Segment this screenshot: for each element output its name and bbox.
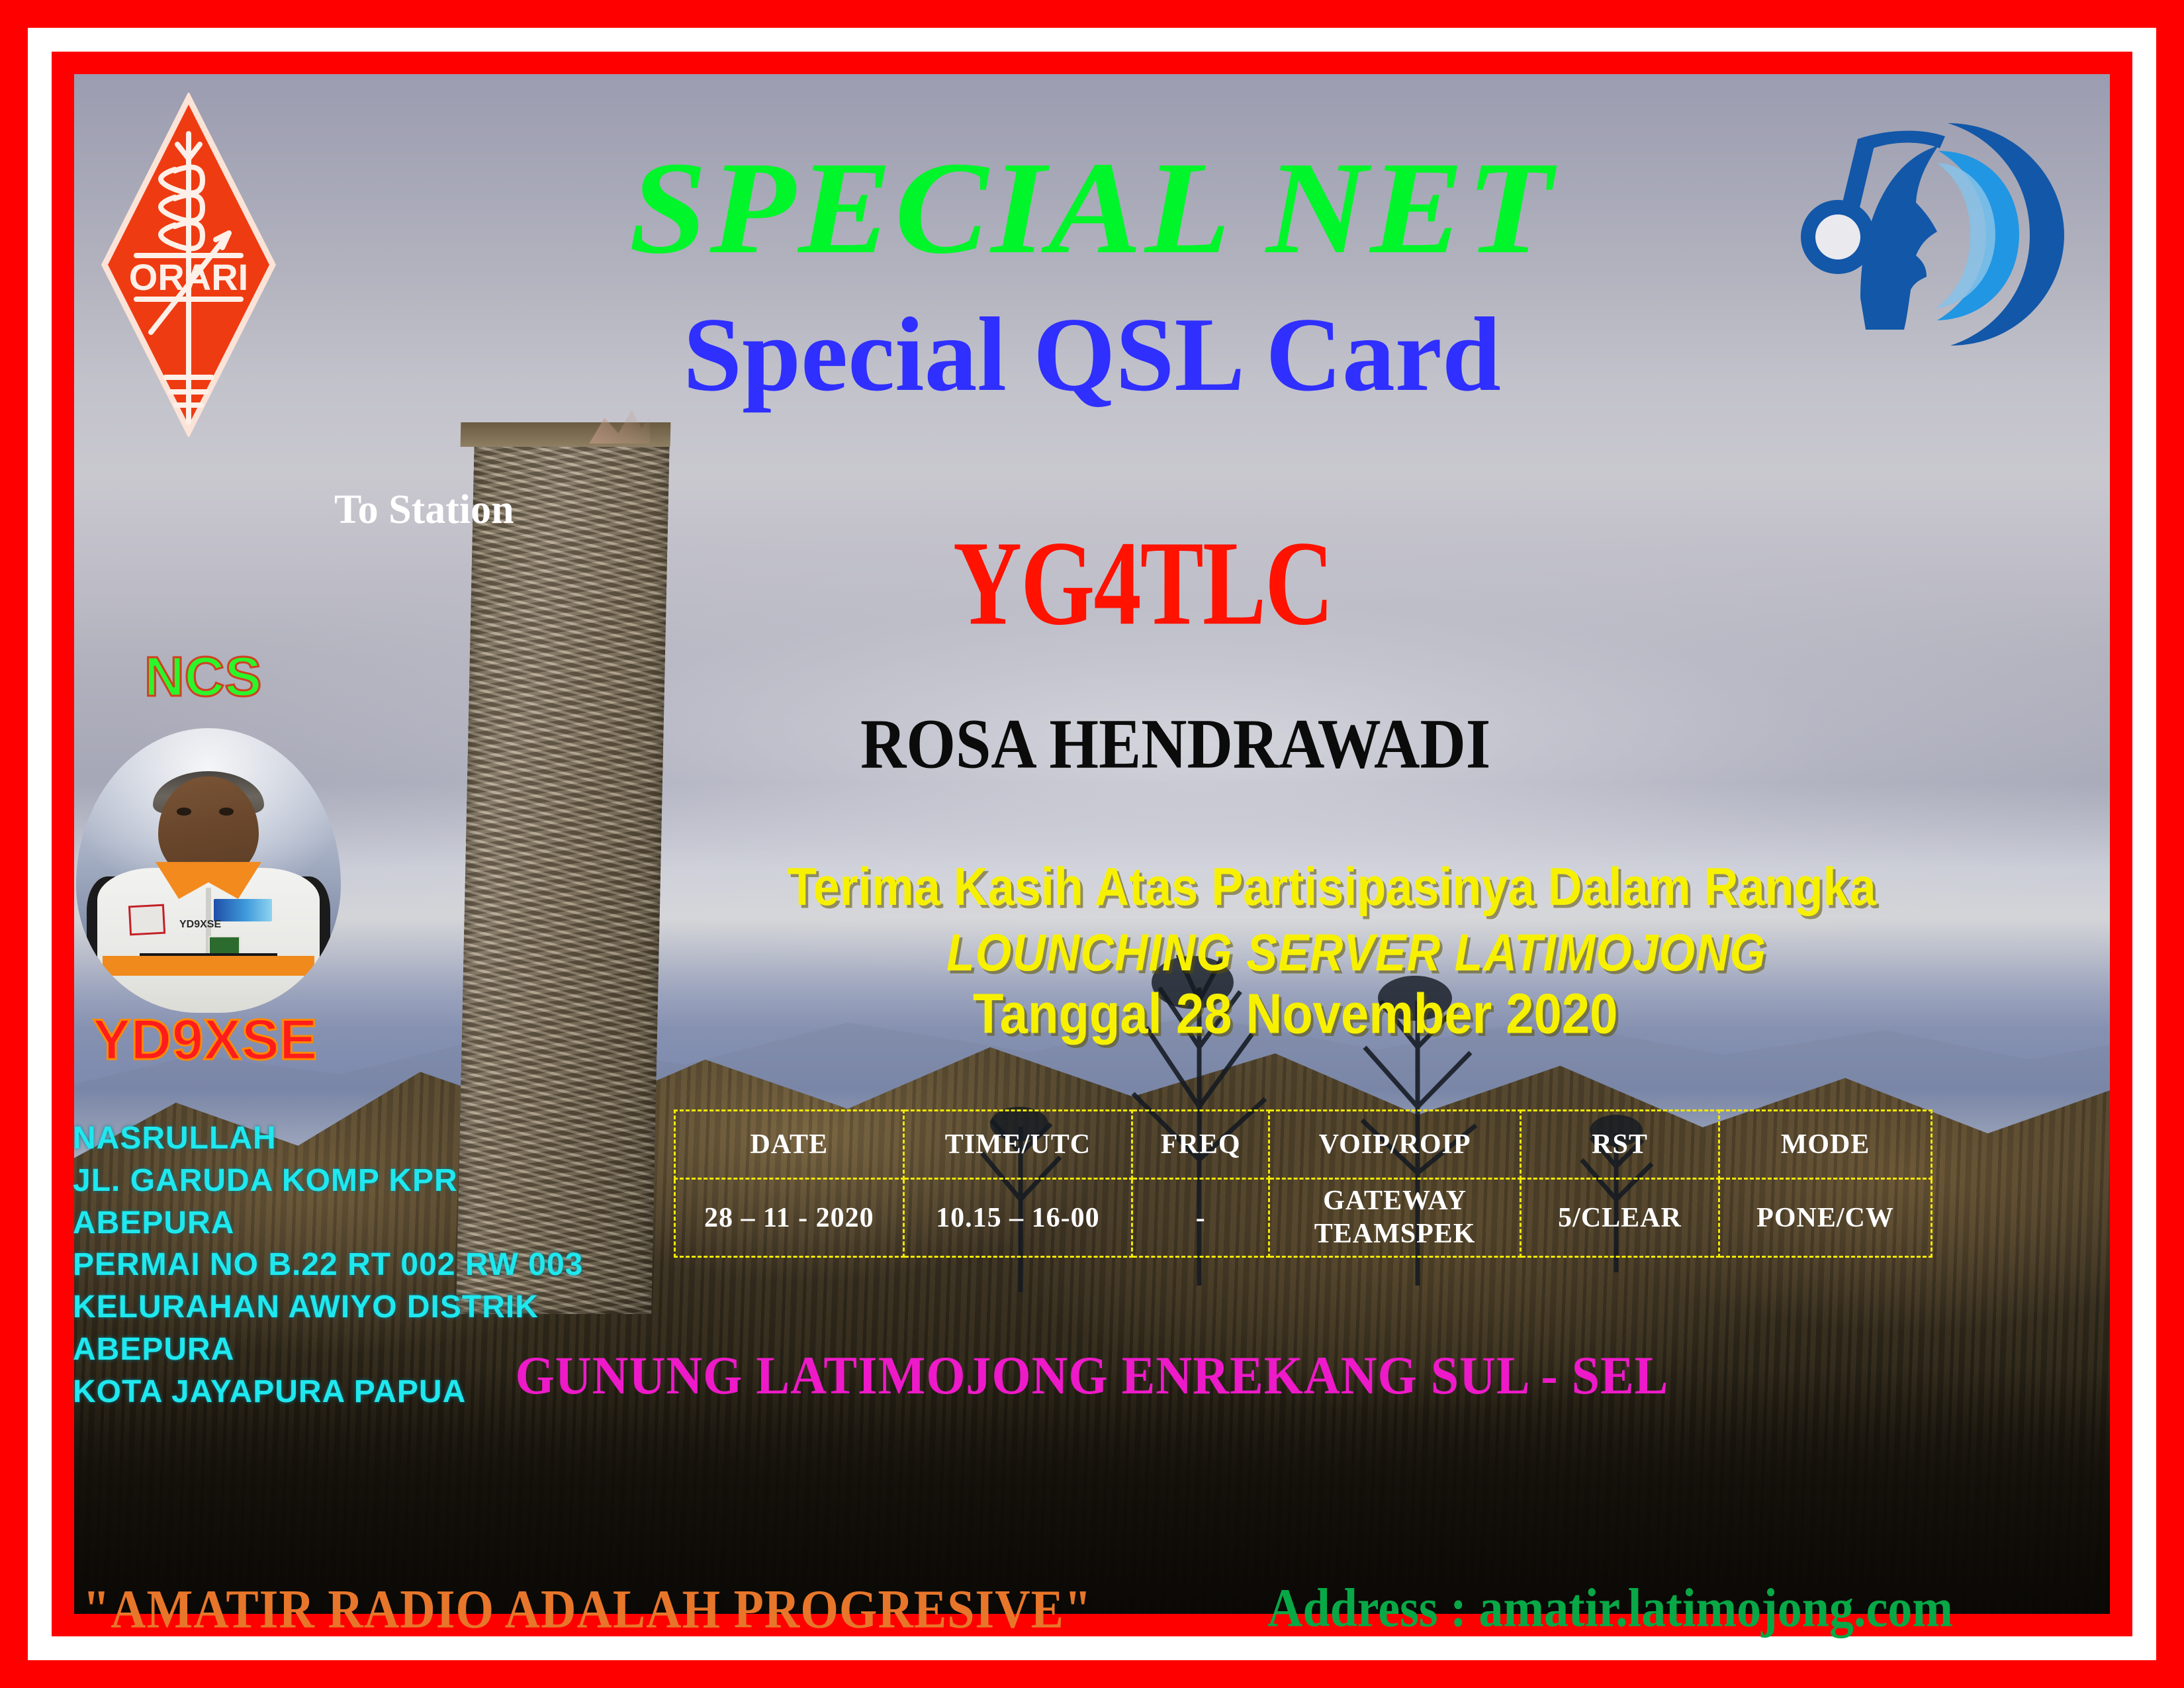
footer-web-address: Address : amatir.latimojong.com — [1267, 1581, 1953, 1636]
qso-table: DATE TIME/UTC FREQ VOIP/ROIP RST MODE 28… — [674, 1109, 1933, 1258]
address-line-1: NASRULLAH — [73, 1117, 583, 1160]
event-date-line: Tanggal 28 November 2020 — [973, 986, 1617, 1043]
ncs-label: NCS — [144, 649, 261, 704]
operator-eye-right — [219, 808, 234, 815]
col-header-freq: FREQ — [1132, 1111, 1269, 1179]
cell-time: 10.15 – 16-00 — [903, 1179, 1132, 1257]
cell-mode: PONE/CW — [1719, 1179, 1932, 1257]
operator-belt — [103, 956, 314, 976]
col-header-rst: RST — [1521, 1111, 1719, 1179]
overlay-layer: ORARI SPECIAL NET Special QSL Card To St… — [0, 0, 2184, 1688]
col-header-time: TIME/UTC — [903, 1111, 1132, 1179]
event-line: LOUNCHING SERVER LATIMOJONG — [946, 927, 1766, 978]
page-subtitle: Special QSL Card — [0, 301, 2184, 407]
cell-date: 28 – 11 - 2020 — [675, 1179, 904, 1257]
operator-shirt-callsign: YD9XSE — [179, 919, 206, 927]
operator-name: ROSA HENDRAWADI — [860, 708, 1490, 780]
address-line-3: ABEPURA — [73, 1202, 583, 1244]
thanks-line: Terima Kasih Atas Partisipasinya Dalam R… — [788, 861, 1876, 914]
col-header-mode: MODE — [1719, 1111, 1932, 1179]
to-station-label: To Station — [334, 487, 514, 534]
col-header-voip: VOIP/ROIP — [1269, 1111, 1521, 1179]
page-title: SPECIAL NET — [0, 142, 2184, 275]
operator-photo: YD9XSE — [76, 728, 341, 1013]
qso-table-row: 28 – 11 - 2020 10.15 – 16-00 - GATEWAY T… — [675, 1179, 1932, 1257]
address-line-2: JL. GARUDA KOMP KPR — [73, 1160, 583, 1202]
operator-patch-left — [128, 904, 165, 935]
address-line-4: PERMAI NO B.22 RT 002 RW 003 — [73, 1244, 583, 1286]
cell-voip-line1: GATEWAY — [1270, 1185, 1520, 1218]
cell-voip: GATEWAY TEAMSPEK — [1269, 1179, 1521, 1257]
qso-table-header-row: DATE TIME/UTC FREQ VOIP/ROIP RST MODE — [675, 1111, 1932, 1179]
cell-rst: 5/CLEAR — [1521, 1179, 1719, 1257]
station-callsign: YG4TLC — [953, 523, 1333, 644]
location-line: GUNUNG LATIMOJONG ENREKANG SUL - SEL — [0, 1348, 2184, 1403]
footer-slogan: "AMATIR RADIO ADALAH PROGRESIVE" — [83, 1582, 1092, 1637]
address-line-5: KELURAHAN AWIYO DISTRIK — [73, 1286, 583, 1329]
cell-freq: - — [1132, 1179, 1269, 1257]
ncs-callsign: YD9XSE — [93, 1011, 317, 1068]
operator-eye-left — [177, 808, 191, 815]
cell-voip-line2: TEAMSPEK — [1270, 1218, 1520, 1251]
qsl-card: ORARI SPECIAL NET Special QSL Card To St… — [0, 0, 2184, 1688]
operator-patch-right — [214, 899, 272, 921]
col-header-date: DATE — [675, 1111, 904, 1179]
